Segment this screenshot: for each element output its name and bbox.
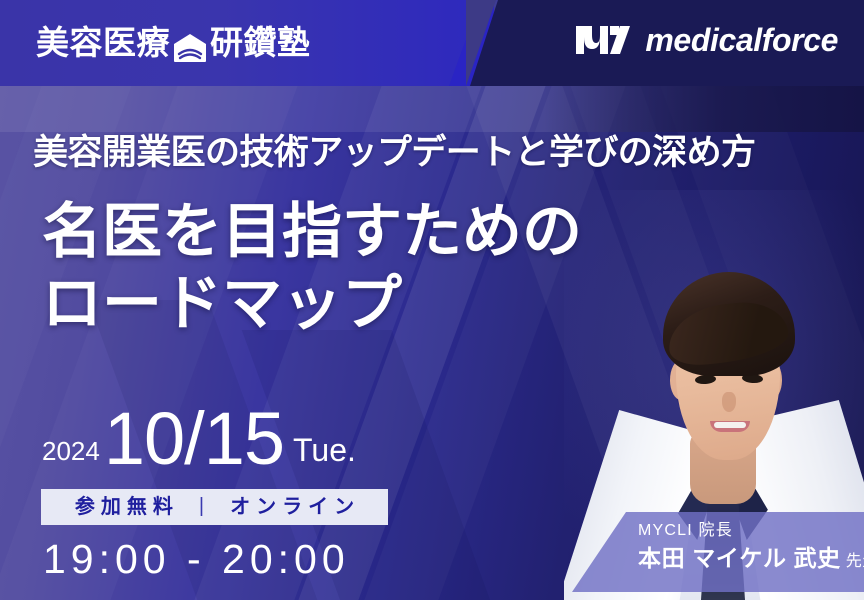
event-time: 19:00 - 20:00: [43, 533, 350, 585]
brand-name-right: 研鑽塾: [210, 21, 311, 65]
badge-fee-label: 参加無料: [69, 497, 179, 517]
speaker-name-text: 本田 マイケル 武史: [638, 545, 841, 571]
brand-logo: 美容医療 研鑽塾: [36, 21, 311, 65]
event-date-dayofweek: Tue.: [293, 434, 356, 466]
event-date: 2024 10/15 Tue.: [42, 405, 356, 473]
poster-subtitle: 美容開業医の技術アップデートと学びの深め方: [33, 129, 755, 177]
event-date-year: 2024: [42, 438, 100, 464]
badge-format-label: オンライン: [224, 497, 360, 517]
webinar-poster: 美容医療 研鑽塾 medicalforce: [0, 0, 864, 600]
brand-name-left: 美容医療: [36, 21, 170, 65]
poster-header: 美容医療 研鑽塾 medicalforce: [0, 0, 864, 86]
medicalforce-wordmark: medicalforce: [645, 22, 838, 58]
speaker-honorific: 先生: [846, 553, 864, 570]
poster-content: 美容開業医の技術アップデートと学びの深め方 名医を目指すための ロードマップ 2…: [0, 0, 864, 600]
medicalforce-logo: medicalforce: [574, 22, 838, 58]
medicalforce-m-mark-icon: [574, 22, 632, 58]
speaker-role: MYCLI 院長: [638, 520, 864, 542]
event-badge: 参加無料 | オンライン: [41, 489, 388, 525]
badge-separator: |: [199, 496, 204, 516]
speaker-name: 本田 マイケル 武史先生: [638, 542, 864, 578]
speaker-nameplate-text: MYCLI 院長 本田 マイケル 武史先生: [638, 520, 864, 578]
poster-headline: 名医を目指すための ロードマップ: [42, 196, 582, 340]
event-date-monthday: 10/15: [104, 405, 284, 473]
clinic-building-icon: [173, 30, 207, 60]
